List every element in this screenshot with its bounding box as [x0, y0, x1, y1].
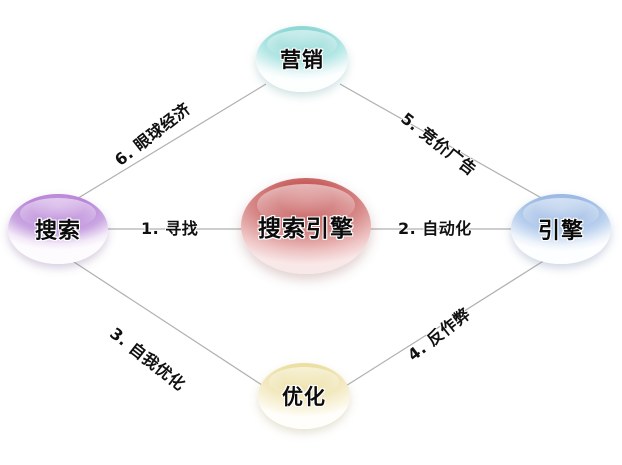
node-marketing[interactable]: 营销 — [256, 26, 348, 92]
node-marketing-label: 营销 — [280, 44, 324, 74]
edge-line-6 — [75, 84, 266, 200]
node-engine[interactable]: 引擎 — [511, 194, 611, 264]
node-search-engine-center[interactable]: 搜索引擎 — [241, 178, 371, 274]
node-search-label: 搜索 — [35, 213, 81, 245]
node-search[interactable]: 搜索 — [8, 194, 108, 264]
diagram-canvas: 搜索 营销 引擎 优化 搜索引擎 1. 寻找 2. 自动化 3. 自我优化 4.… — [0, 0, 622, 465]
edge-label-2: 2. 自动化 — [398, 215, 472, 239]
node-optimize-label: 优化 — [282, 381, 326, 411]
node-optimize[interactable]: 优化 — [258, 363, 350, 429]
edge-label-1: 1. 寻找 — [141, 215, 198, 239]
node-search-engine-label: 搜索引擎 — [258, 209, 354, 243]
node-engine-label: 引擎 — [538, 213, 584, 245]
